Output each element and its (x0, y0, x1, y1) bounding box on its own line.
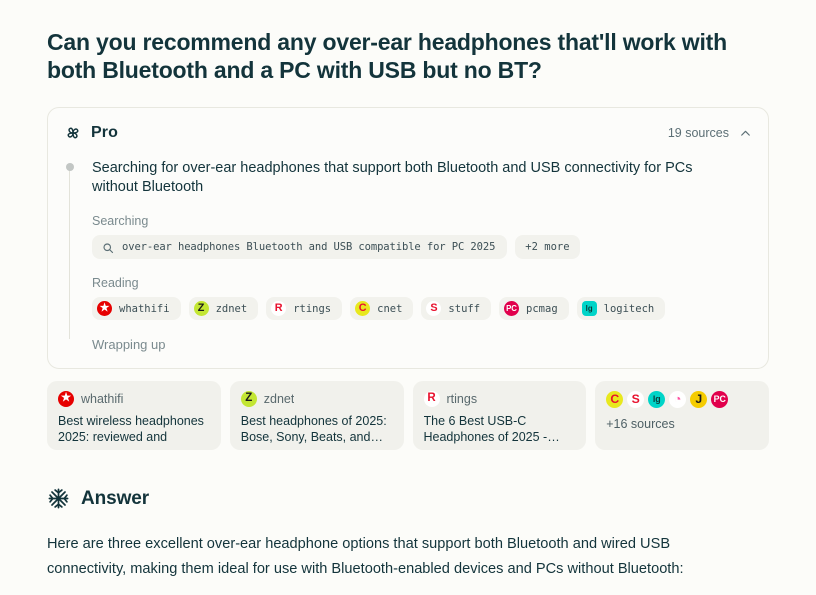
sources-count-label: 19 sources (668, 126, 729, 140)
reading-chip-cnet[interactable]: Ccnet (350, 297, 413, 320)
timeline-dot (66, 163, 74, 171)
reading-chip-whathifi[interactable]: ★whathifi (92, 297, 181, 320)
logitech-favicon: lg (582, 301, 597, 316)
search-query-chip[interactable]: over-ear headphones Bluetooth and USB co… (92, 235, 507, 259)
perplexity-pinwheel-icon (64, 124, 82, 142)
source-card-domain: rtings (447, 392, 478, 406)
pcmag-favicon: PC (711, 391, 728, 408)
pro-brand: Pro (64, 124, 118, 142)
source-card-header: Zzdnet (241, 391, 393, 407)
answer-title: Answer (81, 488, 149, 510)
pcmag-favicon: PC (504, 301, 519, 316)
answer-body-text: Here are three excellent over-ear headph… (47, 532, 747, 582)
source-card-header: Rrtings (424, 391, 576, 407)
reading-chip-rtings[interactable]: Rrtings (266, 297, 342, 320)
reading-chip-label: logitech (604, 303, 655, 315)
source-cards-row: ★whathifiBest wireless headphones 2025: … (47, 381, 769, 450)
reading-chip-pcmag[interactable]: PCpcmag (499, 297, 569, 320)
more-queries-chip[interactable]: +2 more (515, 235, 579, 259)
logitech-favicon: lg (648, 391, 665, 408)
reading-chip-label: stuff (448, 303, 480, 315)
reading-chip-logitech[interactable]: lglogitech (577, 297, 666, 320)
reading-source-chips: ★whathifiZzdnetRrtingsCcnetSstuffPCpcmag… (92, 297, 752, 320)
source-card-title: The 6 Best USB-C Headphones of 2025 -… (424, 413, 576, 445)
whathifi-favicon: ★ (97, 301, 112, 316)
reading-label: Reading (92, 276, 752, 290)
pro-search-card: Pro 19 sources Searching for over-ear he… (47, 107, 769, 369)
stuff-favicon: S (627, 391, 644, 408)
answer-asterisk-icon (47, 487, 70, 510)
source-card[interactable]: ★whathifiBest wireless headphones 2025: … (47, 381, 221, 450)
searching-label: Searching (92, 214, 752, 228)
rtings-favicon: R (424, 391, 440, 407)
source-card-domain: zdnet (264, 392, 295, 406)
search-icon (102, 241, 114, 253)
source-card-title: Best headphones of 2025: Bose, Sony, Bea… (241, 413, 393, 445)
more-sources-card[interactable]: CSlg◔JPC+16 sources (595, 381, 769, 450)
stuff-favicon: S (426, 301, 441, 316)
whathifi-favicon: ★ (58, 391, 74, 407)
wrapping-up-label: Wrapping up (92, 337, 752, 352)
pro-sources-toggle[interactable]: 19 sources (668, 126, 752, 140)
more-sources-label: +16 sources (606, 417, 758, 431)
reading-chip-zdnet[interactable]: Zzdnet (189, 297, 259, 320)
rss-favicon: ◔ (669, 391, 686, 408)
chevron-up-icon[interactable] (739, 127, 752, 140)
reading-chip-label: pcmag (526, 303, 558, 315)
reading-chip-label: cnet (377, 303, 402, 315)
pro-card-header[interactable]: Pro 19 sources (64, 122, 752, 144)
answer-header: Answer (47, 487, 769, 510)
search-query-chips: over-ear headphones Bluetooth and USB co… (92, 235, 752, 259)
cnet-favicon: C (606, 391, 623, 408)
page-title: Can you recommend any over-ear headphone… (47, 0, 747, 84)
reading-chip-stuff[interactable]: Sstuff (421, 297, 491, 320)
search-query-text: over-ear headphones Bluetooth and USB co… (122, 241, 495, 253)
page-root: Can you recommend any over-ear headphone… (0, 0, 816, 595)
search-step-description: Searching for over-ear headphones that s… (92, 159, 707, 197)
zdnet-favicon: Z (194, 301, 209, 316)
more-sources-favicon-stack: CSlg◔JPC (606, 391, 758, 408)
source-card-domain: whathifi (81, 392, 123, 406)
source-card-title: Best wireless headphones 2025: reviewed … (58, 413, 210, 445)
pro-label: Pro (91, 124, 118, 142)
reading-chip-label: zdnet (216, 303, 248, 315)
reading-chip-label: whathifi (119, 303, 170, 315)
reading-chip-label: rtings (293, 303, 331, 315)
jabra-favicon: J (690, 391, 707, 408)
source-card[interactable]: ZzdnetBest headphones of 2025: Bose, Son… (230, 381, 404, 450)
zdnet-favicon: Z (241, 391, 257, 407)
cnet-favicon: C (355, 301, 370, 316)
source-card[interactable]: RrtingsThe 6 Best USB-C Headphones of 20… (413, 381, 587, 450)
pro-steps-timeline: Searching for over-ear headphones that s… (64, 159, 752, 352)
rtings-favicon: R (271, 301, 286, 316)
source-card-header: ★whathifi (58, 391, 210, 407)
